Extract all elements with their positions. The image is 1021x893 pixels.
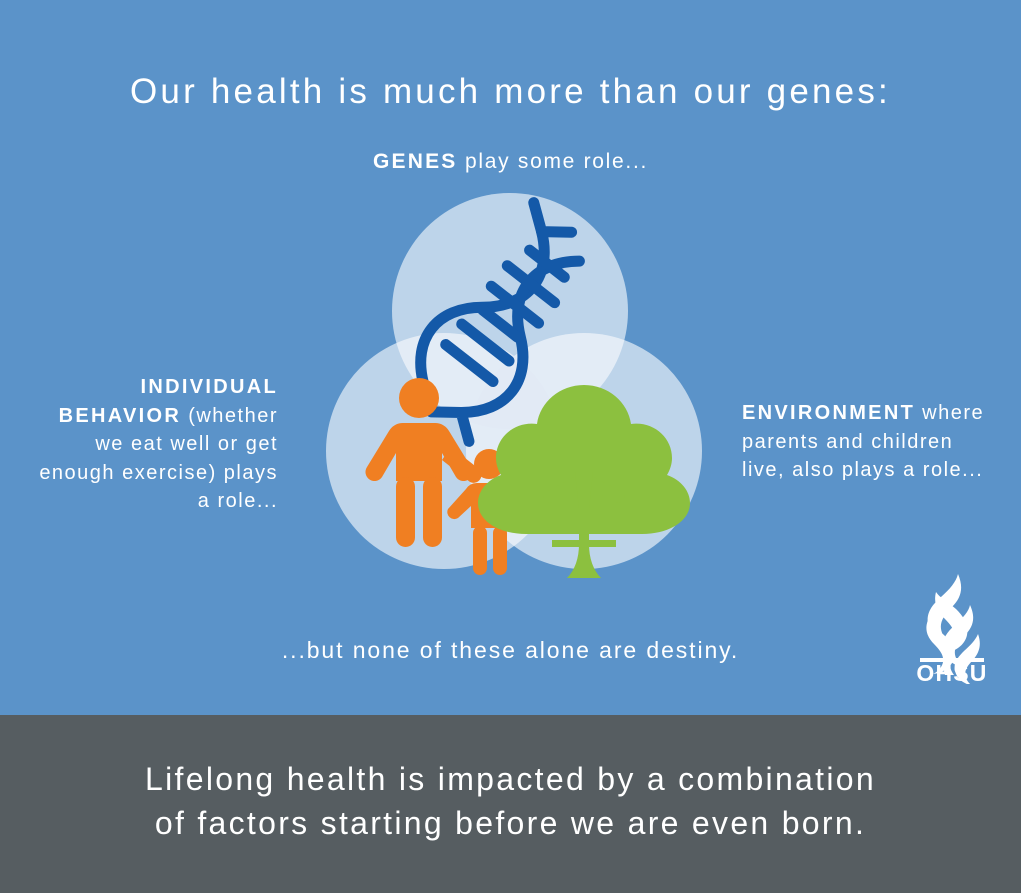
genes-caption-strong: GENES <box>373 150 458 173</box>
infographic-canvas: Our health is much more than our genes: … <box>0 0 1021 893</box>
genes-caption-rest: play some role... <box>458 150 649 173</box>
label-environment: ENVIRONMENT where parents and children l… <box>742 399 992 485</box>
genes-caption: GENES play some role... <box>0 150 1021 174</box>
ohsu-wordmark: OHSU <box>916 660 987 684</box>
ohsu-logo: OHSU <box>906 572 998 684</box>
footer-caption-line-2: of factors starting before we are even b… <box>0 801 1021 845</box>
footer-caption: Lifelong health is impacted by a combina… <box>0 757 1021 845</box>
label-individual-behavior: INDIVIDUAL BEHAVIOR (whether we eat well… <box>28 373 278 516</box>
closing-line: ...but none of these alone are destiny. <box>0 637 1021 664</box>
footer-caption-line-1: Lifelong health is impacted by a combina… <box>0 757 1021 801</box>
footer-band: Lifelong health is impacted by a combina… <box>0 715 1021 893</box>
page-title: Our health is much more than our genes: <box>0 72 1021 112</box>
venn-diagram <box>290 185 740 595</box>
label-environment-heading: ENVIRONMENT <box>742 402 915 424</box>
